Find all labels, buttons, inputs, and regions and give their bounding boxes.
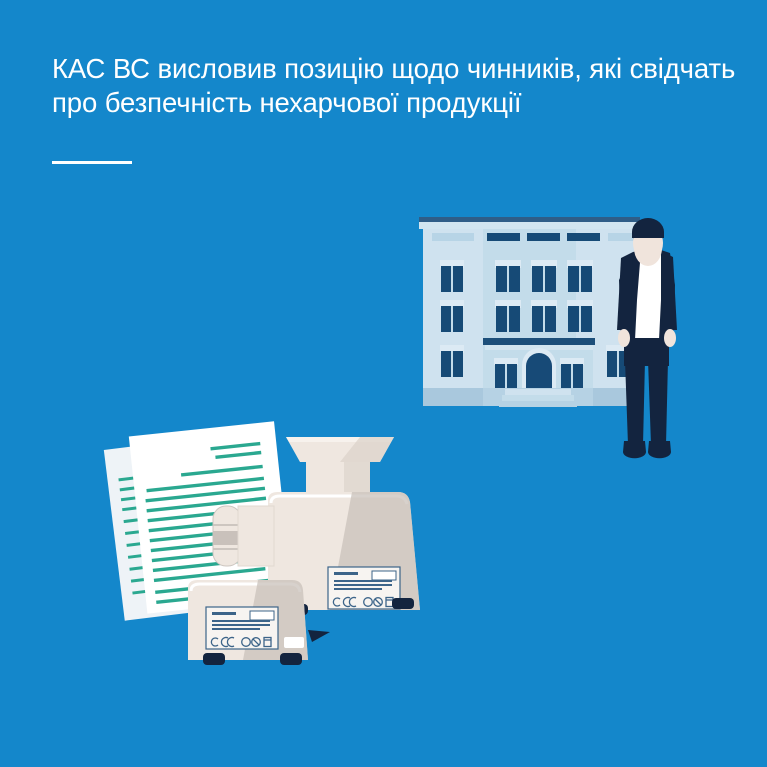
scale-display-panel xyxy=(238,506,274,566)
illustration-documents-and-appliances xyxy=(0,0,767,767)
appliance-button[interactable] xyxy=(284,637,304,648)
appliance-foot xyxy=(280,653,302,665)
scale-column-shadow xyxy=(344,462,370,492)
scale-dial xyxy=(213,506,241,566)
appliance-foot xyxy=(203,653,225,665)
appliance-cord-tab xyxy=(308,630,330,642)
certification-label xyxy=(206,607,278,649)
poster-canvas: КАС ВС висловив позицію щодо чинників, я… xyxy=(0,0,767,767)
certification-label xyxy=(328,567,400,609)
scale-foot xyxy=(392,598,414,609)
